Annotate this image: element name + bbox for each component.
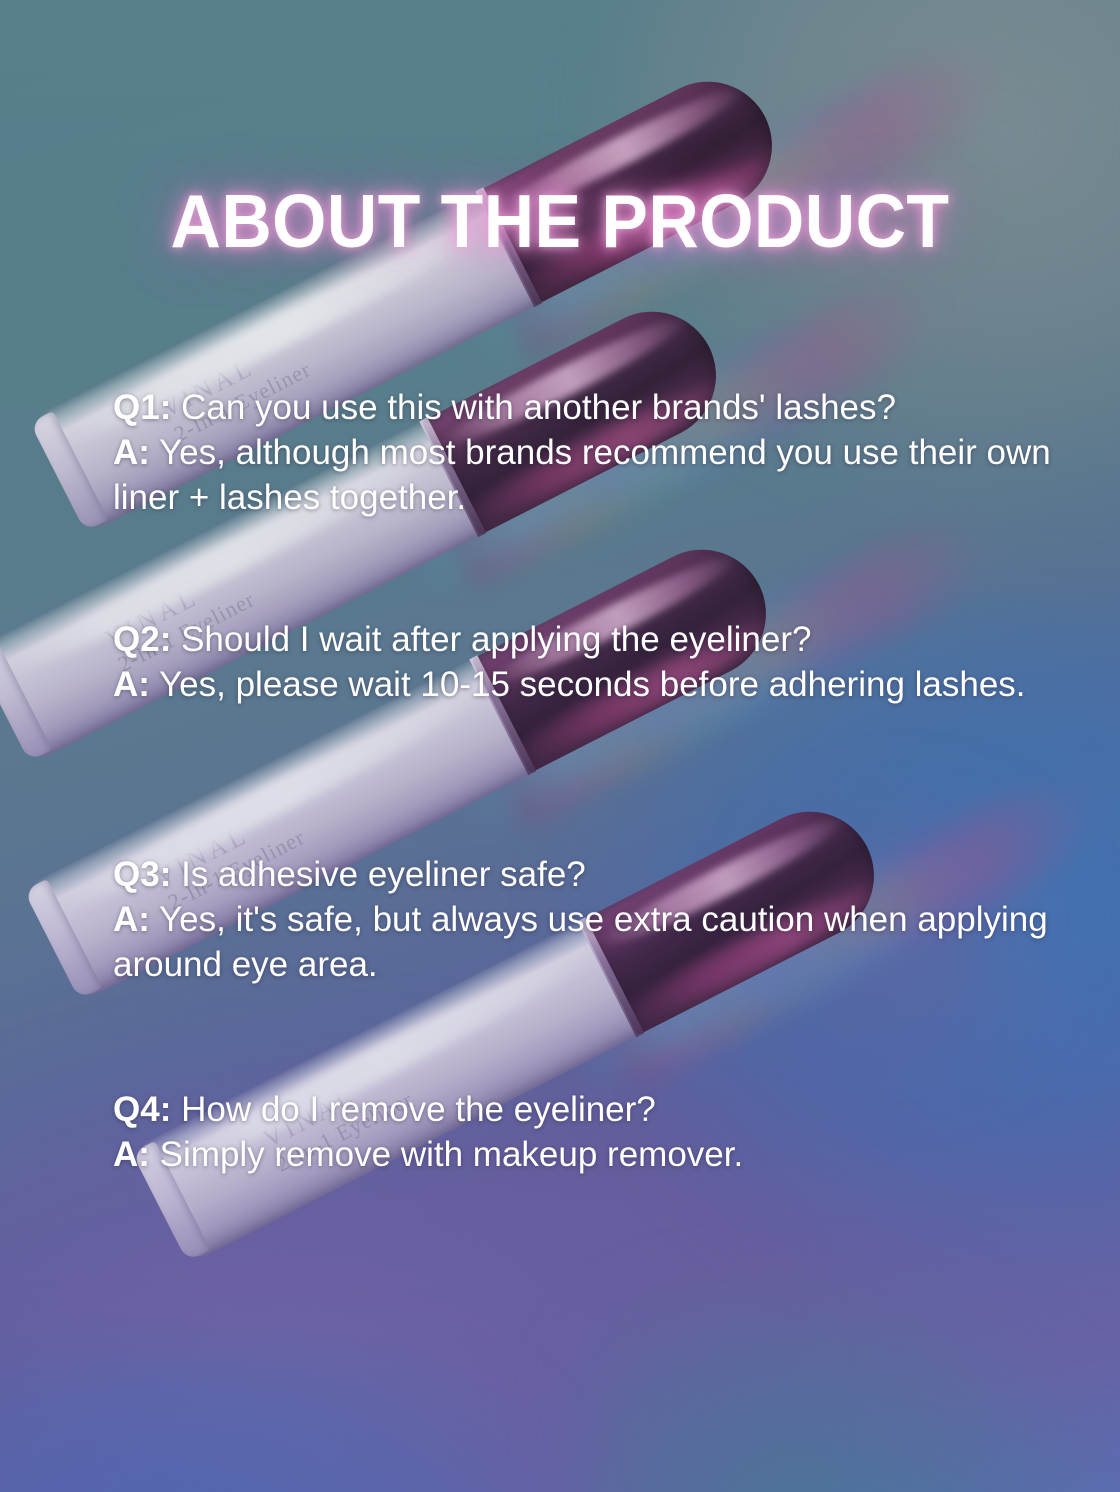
faq-item-2: Q2: Should I wait after applying the eye… [113,617,1062,707]
faq-answer-label: A: [113,900,150,939]
faq-item-3: Q3: Is adhesive eyeliner safe? A: Yes, i… [113,852,1062,987]
faq-item-4: Q4: How do I remove the eyeliner? A: Sim… [113,1087,1062,1177]
faq-question-line: Q3: Is adhesive eyeliner safe? [113,852,1062,897]
faq-answer-text: Simply remove with makeup remover. [150,1135,743,1174]
faq-question-text: Should I wait after applying the eyeline… [171,620,811,659]
faq-question-label: Q2: [113,620,171,659]
faq-answer-line: A: Simply remove with makeup remover. [113,1132,1062,1177]
faq-question-line: Q4: How do I remove the eyeliner? [113,1087,1062,1132]
faq-question-text: Can you use this with another brands' la… [171,388,896,427]
faq-answer-text: Yes, although most brands recommend you … [113,433,1051,517]
faq-answer-line: A: Yes, it's safe, but always use extra … [113,897,1062,987]
faq-answer-text: Yes, please wait 10-15 seconds before ad… [150,665,1026,704]
faq-question-label: Q1: [113,388,171,427]
poster-text-content: ABOUT THE PRODUCT Q1: Can you use this w… [0,0,1120,1492]
faq-answer-label: A: [113,433,150,472]
faq-answer-label: A: [113,665,150,704]
faq-question-label: Q3: [113,855,171,894]
page-title: ABOUT THE PRODUCT [39,184,1081,259]
faq-answer-label: A: [113,1135,150,1174]
faq-answer-line: A: Yes, please wait 10-15 seconds before… [113,662,1062,707]
faq-question-label: Q4: [113,1090,171,1129]
faq-question-text: How do I remove the eyeliner? [171,1090,655,1129]
faq-answer-line: A: Yes, although most brands recommend y… [113,430,1062,520]
faq-question-line: Q2: Should I wait after applying the eye… [113,617,1062,662]
faq-question-text: Is adhesive eyeliner safe? [171,855,585,894]
faq-question-line: Q1: Can you use this with another brands… [113,385,1062,430]
faq-item-1: Q1: Can you use this with another brands… [113,385,1062,520]
faq-answer-text: Yes, it's safe, but always use extra cau… [113,900,1048,984]
product-faq-poster: VINAL 2-In-1 Eyeliner VINAL 2-In-1 Eyeli… [0,0,1120,1492]
